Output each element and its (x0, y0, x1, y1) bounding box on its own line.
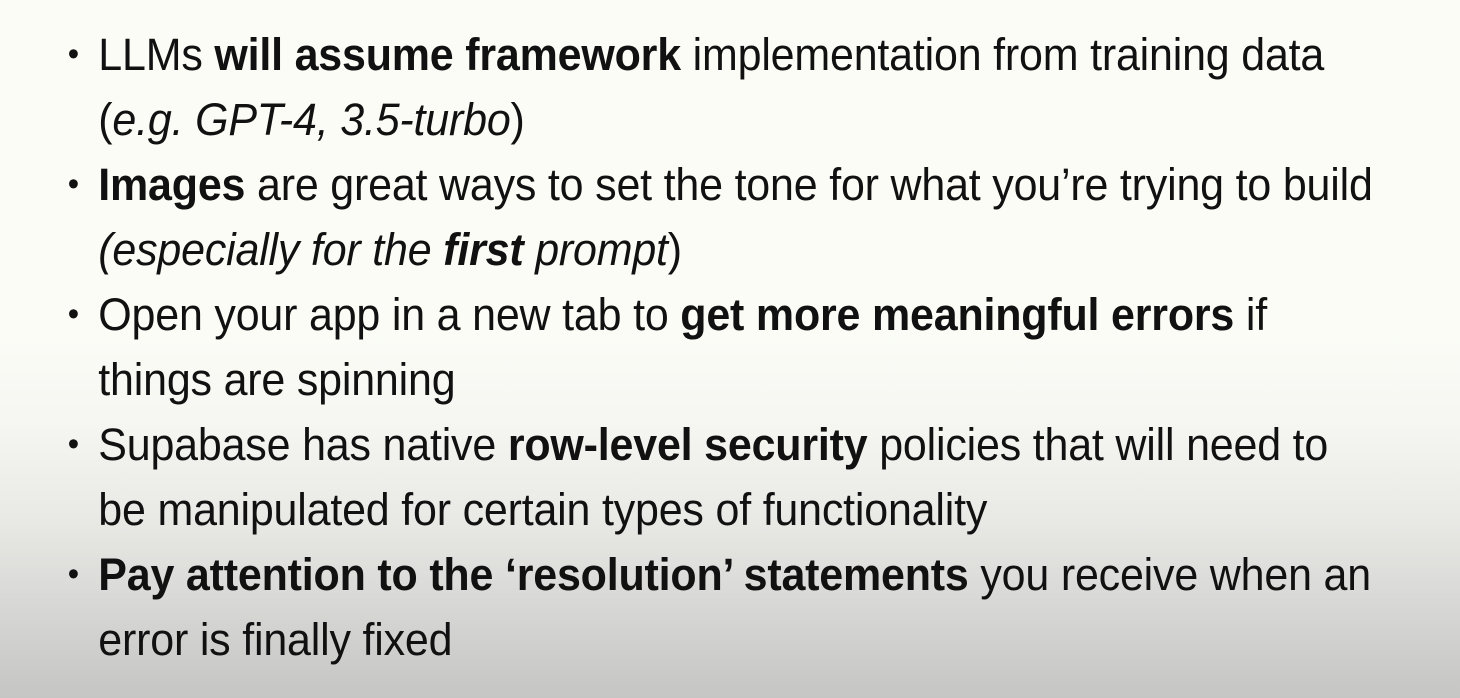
bullet-point-icon: • (68, 152, 87, 217)
bullet-supabase-row-level-security: •Supabase has native row-level security … (62, 412, 1380, 542)
bullet-resolution-statements: •Pay attention to the ‘resolution’ state… (62, 542, 1380, 672)
bullet-point-icon: • (68, 542, 87, 607)
text-run-regular: Supabase has native (98, 419, 508, 470)
text-run-regular: LLMs (98, 29, 214, 80)
text-run-bold: will assume framework (214, 29, 681, 80)
bullet-list: •LLMs will assume framework implementati… (62, 22, 1442, 672)
text-run-bold: get more meaningful errors (680, 289, 1234, 340)
text-run-italic: e.g. GPT-4, 3.5-turbo (112, 94, 510, 145)
text-run-bold-italic: first (443, 224, 523, 275)
text-run-italic: prompt (523, 224, 667, 275)
text-run-italic: (especially for the (98, 224, 443, 275)
text-run-regular: ) (511, 94, 525, 145)
bullet-open-app-new-tab: •Open your app in a new tab to get more … (62, 282, 1380, 412)
text-run-regular: ) (668, 224, 682, 275)
text-run-regular: are great ways to set the tone for what … (245, 159, 1372, 210)
bullet-text: Images are great ways to set the tone fo… (98, 159, 1372, 275)
slide-canvas: •LLMs will assume framework implementati… (0, 0, 1460, 698)
bullet-point-icon: • (68, 412, 87, 477)
bullet-text: Supabase has native row-level security p… (98, 419, 1328, 535)
bullet-text: Pay attention to the ‘resolution’ statem… (98, 549, 1371, 665)
bullet-point-icon: • (68, 22, 87, 87)
bullet-images-set-tone: •Images are great ways to set the tone f… (62, 152, 1380, 282)
bullet-text: LLMs will assume framework implementatio… (98, 29, 1324, 145)
bullet-text: Open your app in a new tab to get more m… (98, 289, 1267, 405)
bullet-llm-framework-assumption: •LLMs will assume framework implementati… (62, 22, 1380, 152)
bullet-point-icon: • (68, 282, 87, 347)
text-run-bold: Images (98, 159, 245, 210)
text-run-regular: Open your app in a new tab to (98, 289, 680, 340)
text-run-bold: Pay attention to the ‘resolution’ statem… (98, 549, 968, 600)
text-run-bold: row-level security (508, 419, 868, 470)
